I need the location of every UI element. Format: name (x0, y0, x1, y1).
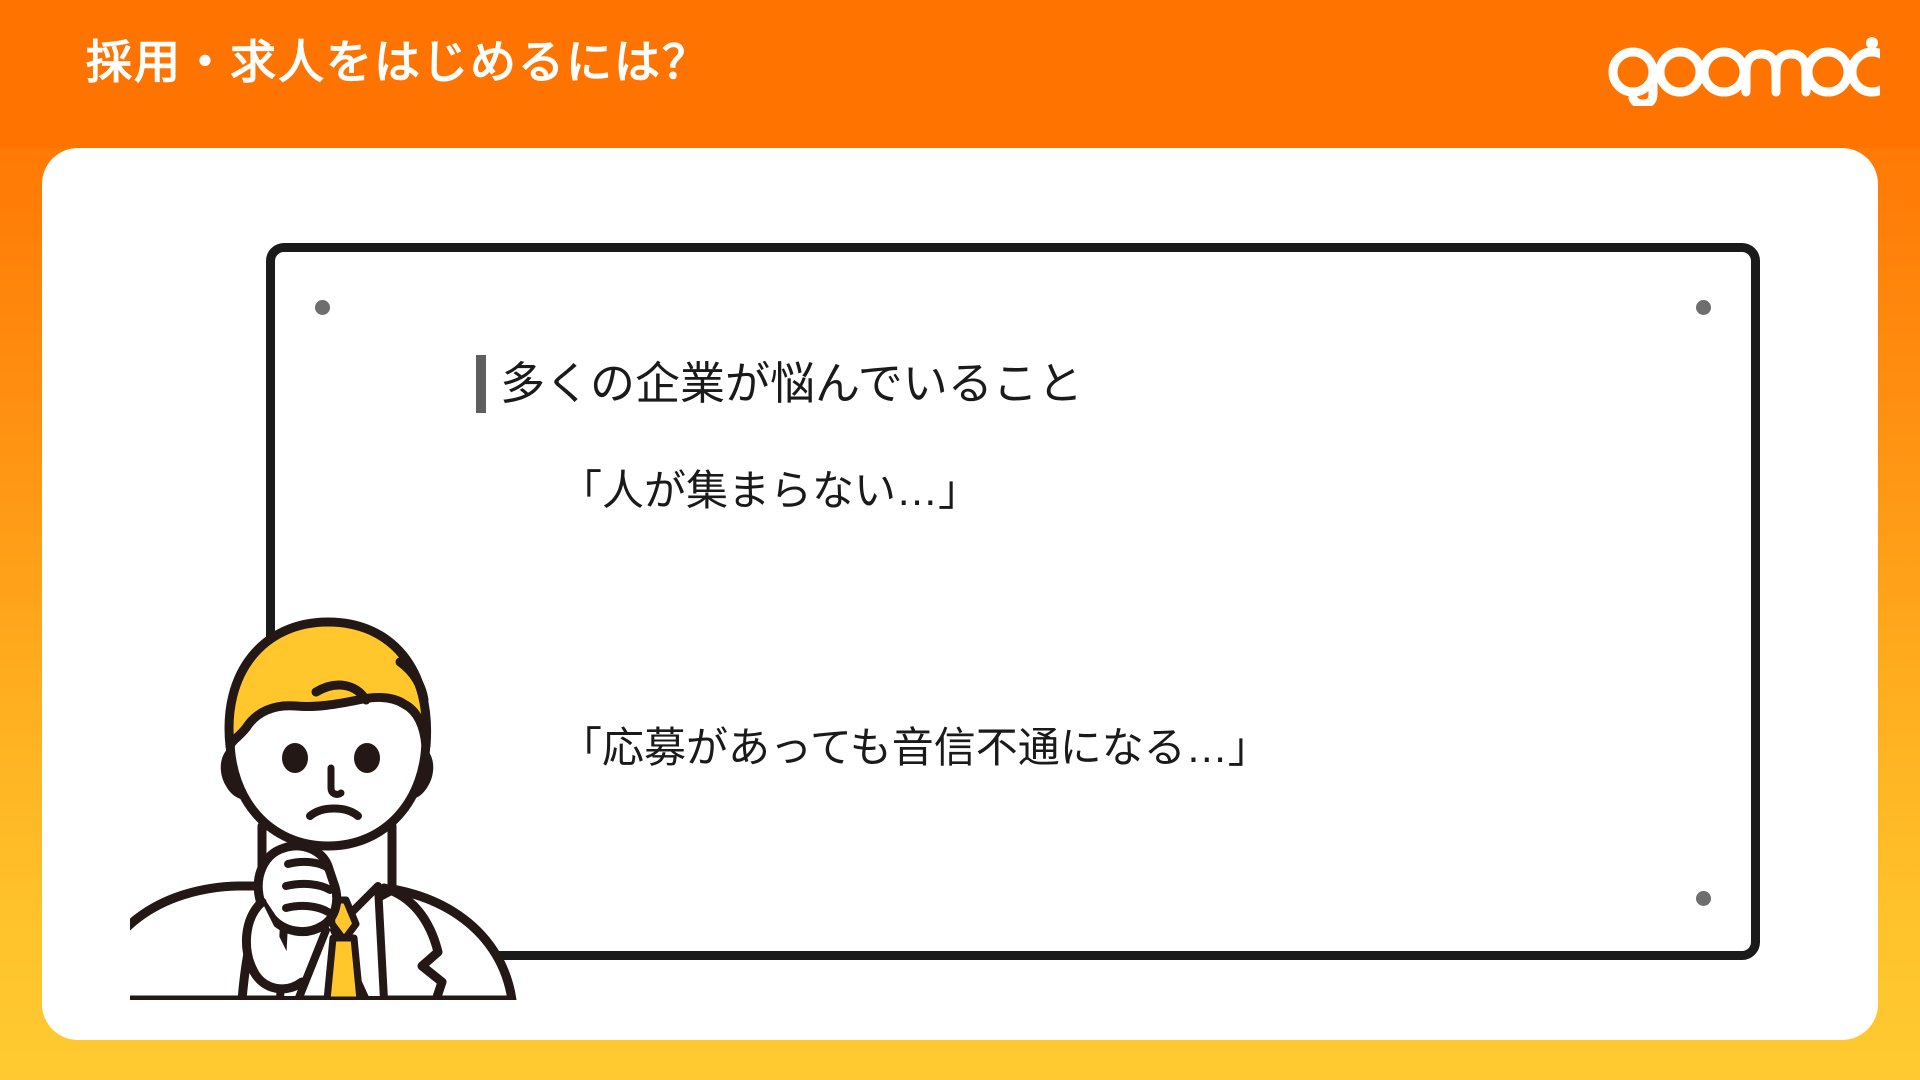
board-heading: 多くの企業が悩んでいること (476, 355, 1083, 413)
goomooi-logo (1600, 30, 1880, 106)
heading-accent-bar (476, 355, 486, 413)
thinking-businessman-illustration (130, 600, 550, 1000)
heading-text: 多くの企業が悩んでいること (500, 359, 1083, 409)
slide-canvas: 採用・求人をはじめるには？ (0, 0, 1920, 1080)
screw-top-right-icon (1696, 300, 1711, 315)
page-title: 採用・求人をはじめるには？ (86, 34, 710, 92)
quote-line-1: 「人が集まらない…」 (560, 466, 980, 516)
quote-line-2: 「応募があっても音信不通になる…」 (560, 723, 1270, 773)
screw-top-left-icon (315, 300, 330, 315)
screw-bottom-right-icon (1696, 891, 1711, 906)
